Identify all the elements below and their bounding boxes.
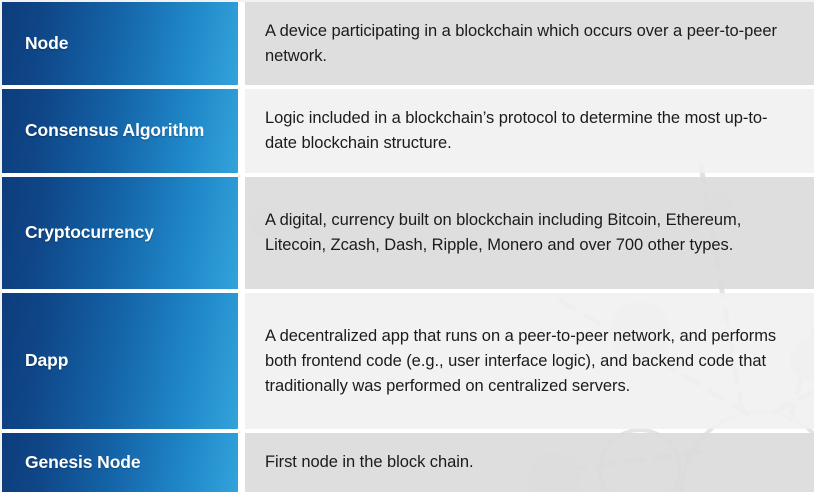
- term-cell: Node: [0, 2, 238, 85]
- term-label: Consensus Algorithm: [25, 119, 204, 142]
- definition-text: A digital, currency built on blockchain …: [265, 208, 790, 258]
- table-row: Dapp A decentralized app that runs on a …: [0, 293, 814, 429]
- column-gap: [238, 89, 245, 173]
- term-cell: Cryptocurrency: [0, 177, 238, 289]
- definition-text: A device participating in a blockchain w…: [265, 19, 790, 69]
- definition-cell: A digital, currency built on blockchain …: [245, 177, 814, 289]
- term-cell: Genesis Node: [0, 433, 238, 492]
- term-label: Node: [25, 32, 68, 55]
- blockchain-glossary-table: Node A device participating in a blockch…: [0, 0, 814, 492]
- term-label: Genesis Node: [25, 451, 141, 474]
- table-row: Cryptocurrency A digital, currency built…: [0, 177, 814, 289]
- definition-text: Logic included in a blockchain’s protoco…: [265, 106, 790, 156]
- column-gap: [238, 433, 245, 492]
- term-cell: Dapp: [0, 293, 238, 429]
- definition-cell: A decentralized app that runs on a peer-…: [245, 293, 814, 429]
- table-row: Node A device participating in a blockch…: [0, 2, 814, 85]
- table-row: Consensus Algorithm Logic included in a …: [0, 89, 814, 173]
- column-gap: [238, 293, 245, 429]
- column-gap: [238, 2, 245, 85]
- table-row: Genesis Node First node in the block cha…: [0, 433, 814, 492]
- term-label: Cryptocurrency: [25, 221, 154, 244]
- definition-cell: A device participating in a blockchain w…: [245, 2, 814, 85]
- definition-text: First node in the block chain.: [265, 450, 474, 475]
- definition-cell: Logic included in a blockchain’s protoco…: [245, 89, 814, 173]
- definition-text: A decentralized app that runs on a peer-…: [265, 324, 790, 399]
- term-label: Dapp: [25, 349, 68, 372]
- term-cell: Consensus Algorithm: [0, 89, 238, 173]
- column-gap: [238, 177, 245, 289]
- definition-cell: First node in the block chain.: [245, 433, 814, 492]
